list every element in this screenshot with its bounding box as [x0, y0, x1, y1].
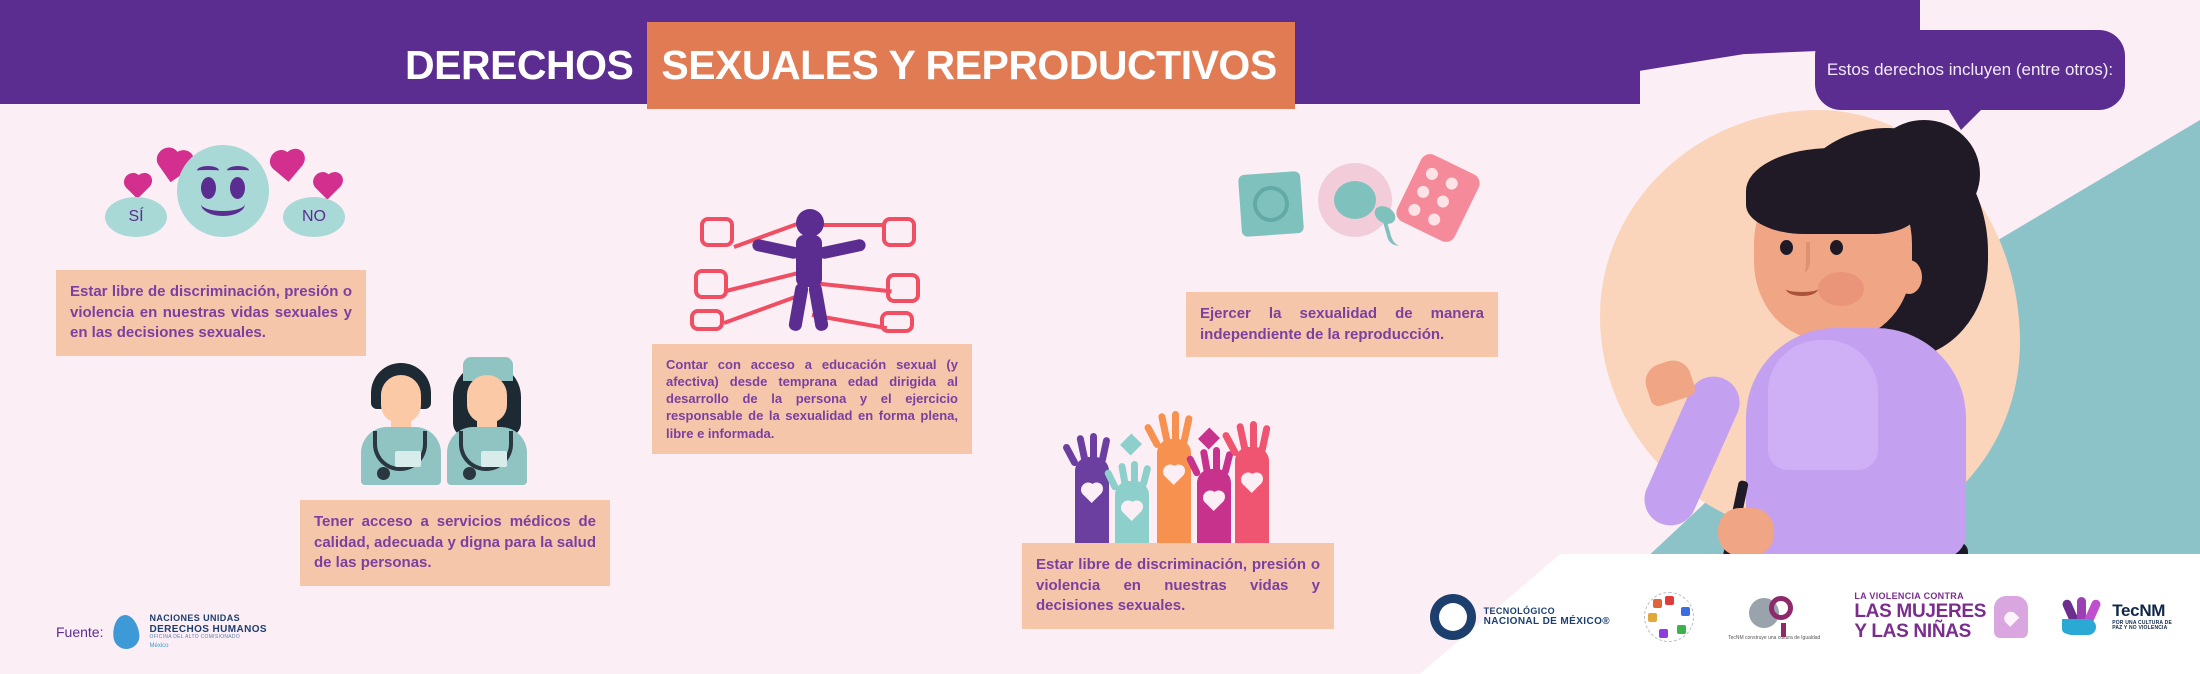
eyebrow-left: [1772, 218, 1800, 230]
face: [467, 375, 507, 423]
un-line-1: NACIONES UNIDAS: [149, 614, 267, 624]
tecnm-logo-text: TecNM POR UNA CULTURA DE PAZ Y NO VIOLEN…: [2112, 602, 2172, 632]
network-link: [812, 281, 892, 293]
figure-leg-right: [808, 282, 829, 332]
smile: [1786, 282, 1818, 296]
tnm-line-2: NACIONAL DE MÉXICO®: [1484, 616, 1610, 628]
un-line-3: OFICINA DEL ALTO COMISIONADO: [149, 635, 267, 641]
gear-icon: [1430, 594, 1476, 640]
yes-button[interactable]: SÍ: [105, 197, 167, 237]
page-title: DERECHOS SEXUALES Y REPRODUCTIVOS: [405, 22, 1295, 109]
heart-cutout: [1122, 502, 1141, 521]
nurse-figure: [441, 355, 533, 485]
footer-logo-bar: TECNOLÓGICO NACIONAL DE MÉXICO® TecNM co…: [1430, 574, 2172, 660]
heart-icon: [273, 152, 302, 182]
network-node: [700, 217, 734, 247]
un-logo-text: NACIONES UNIDAS DERECHOS HUMANOS OFICINA…: [149, 614, 267, 650]
id-badge: [481, 451, 507, 467]
eyebrow-right: [1822, 218, 1850, 230]
title-word-derechos: DERECHOS: [405, 42, 647, 89]
figure-arm-left: [751, 238, 800, 260]
hand-icon-magenta: [1197, 469, 1231, 545]
equity-caption: TecNM construye una cultura de Igualdad: [1728, 635, 1820, 641]
stethoscope-bell: [377, 467, 390, 480]
figure-torso: [796, 235, 822, 287]
figure-arm-right: [817, 238, 866, 260]
hand-icon-teal: [1115, 481, 1149, 545]
network-link: [822, 223, 884, 227]
heart-cutout: [1242, 474, 1261, 493]
source-attribution: Fuente: NACIONES UNIDAS DERECHOS HUMANOS…: [56, 614, 267, 650]
callout-sexualidad-independiente: Ejercer la sexualidad de manera independ…: [1186, 292, 1498, 357]
eyebrow-right: [227, 166, 249, 175]
speech-bubble-text: Estos derechos incluyen (entre otros):: [1827, 59, 2113, 82]
infographic-poster: DERECHOS SEXUALES Y REPRODUCTIVOS Estos …: [0, 0, 2200, 674]
hand-icon-orange: [1157, 439, 1191, 545]
equity-culture-logo: TecNM construye una cultura de Igualdad: [1728, 594, 1820, 641]
callout-discriminacion-decisiones: Estar libre de discriminación, presión o…: [1022, 543, 1334, 629]
campaign-text: LA VIOLENCIA CONTRA LAS MUJERES Y LAS NI…: [1854, 592, 1986, 641]
callout-discriminacion-vidas-sexuales: Estar libre de discriminación, presión o…: [56, 270, 366, 356]
raised-hands-illustration: [1075, 425, 1255, 545]
hand-icon-purple: [1075, 457, 1109, 545]
callout-educacion-sexual: Contar con acceso a educación sexual (y …: [652, 344, 972, 454]
tnm-line-1: TECNOLÓGICO: [1484, 606, 1610, 616]
heart-cutout: [1204, 492, 1223, 511]
doctor-figure: [355, 355, 447, 485]
diversity-circle-logo-icon: [1644, 592, 1694, 642]
tecnm-name: TecNM: [2112, 602, 2172, 621]
woman-illustration: [1600, 90, 2060, 590]
hand-icon-pink: [1235, 447, 1269, 545]
stethoscope-bell: [463, 467, 476, 480]
title-highlight-sexuales-reproductivos: SEXUALES Y REPRODUCTIVOS: [647, 22, 1294, 109]
network-node: [882, 217, 916, 247]
tecnm-tagline-2: PAZ Y NO VIOLENCIA: [2112, 626, 2172, 632]
eyebrow-left: [197, 166, 219, 175]
medical-staff-illustration: [355, 355, 555, 485]
gender-equity-icon: [1747, 594, 1801, 632]
network-node: [690, 309, 724, 331]
eye-left: [1780, 240, 1793, 255]
source-label: Fuente:: [56, 624, 103, 640]
network-node: [694, 269, 728, 299]
tecnologico-nacional-logo: TECNOLÓGICO NACIONAL DE MÉXICO®: [1430, 594, 1610, 640]
contraceptives-illustration: [1240, 155, 1480, 250]
smiley-face-icon: [177, 145, 269, 237]
heart-cutout: [1082, 484, 1101, 503]
dove-icon: [2062, 597, 2106, 637]
network-node: [886, 273, 920, 303]
campaign-line-3: Y LAS NIÑAS: [1854, 622, 1986, 642]
heart-icon: [315, 174, 340, 199]
un-flame-logo-icon: [112, 614, 141, 651]
heart-icon-teal: [1120, 434, 1142, 456]
speech-bubble: Estos derechos incluyen (entre otros):: [1815, 30, 2125, 110]
tecnm-logo: TecNM POR UNA CULTURA DE PAZ Y NO VIOLEN…: [2062, 597, 2172, 637]
cheek-blush: [1818, 272, 1864, 306]
face: [381, 375, 421, 423]
no-button[interactable]: NO: [283, 197, 345, 237]
callout-servicios-medicos: Tener acceso a servicios médicos de cali…: [300, 500, 610, 586]
condom-ring: [1252, 185, 1290, 223]
orange-hand-icon: [1994, 596, 2028, 638]
figure-leg-left: [788, 282, 809, 332]
heart-icon: [126, 175, 150, 199]
campaign-logo: LA VIOLENCIA CONTRA LAS MUJERES Y LAS NI…: [1854, 592, 2028, 641]
consent-illustration: SÍ NO: [105, 145, 345, 260]
figure-head: [796, 209, 824, 237]
speech-bubble-tail: [1945, 104, 1987, 130]
sweater-front: [1768, 340, 1878, 470]
heart-cutout: [1164, 466, 1183, 485]
nose: [1796, 242, 1810, 272]
smile-mouth: [201, 192, 245, 216]
un-line-4: México: [149, 643, 267, 650]
ovum-nucleus: [1334, 181, 1376, 219]
network-diagram-illustration: [700, 205, 920, 335]
campaign-line-2: LAS MUJERES: [1854, 602, 1986, 622]
ear: [1896, 260, 1922, 294]
id-badge: [395, 451, 421, 467]
hand-holding-pen: [1718, 508, 1774, 556]
tnm-logo-text: TECNOLÓGICO NACIONAL DE MÉXICO®: [1484, 606, 1610, 628]
eye-right: [1830, 240, 1843, 255]
condom-icon: [1238, 171, 1304, 237]
